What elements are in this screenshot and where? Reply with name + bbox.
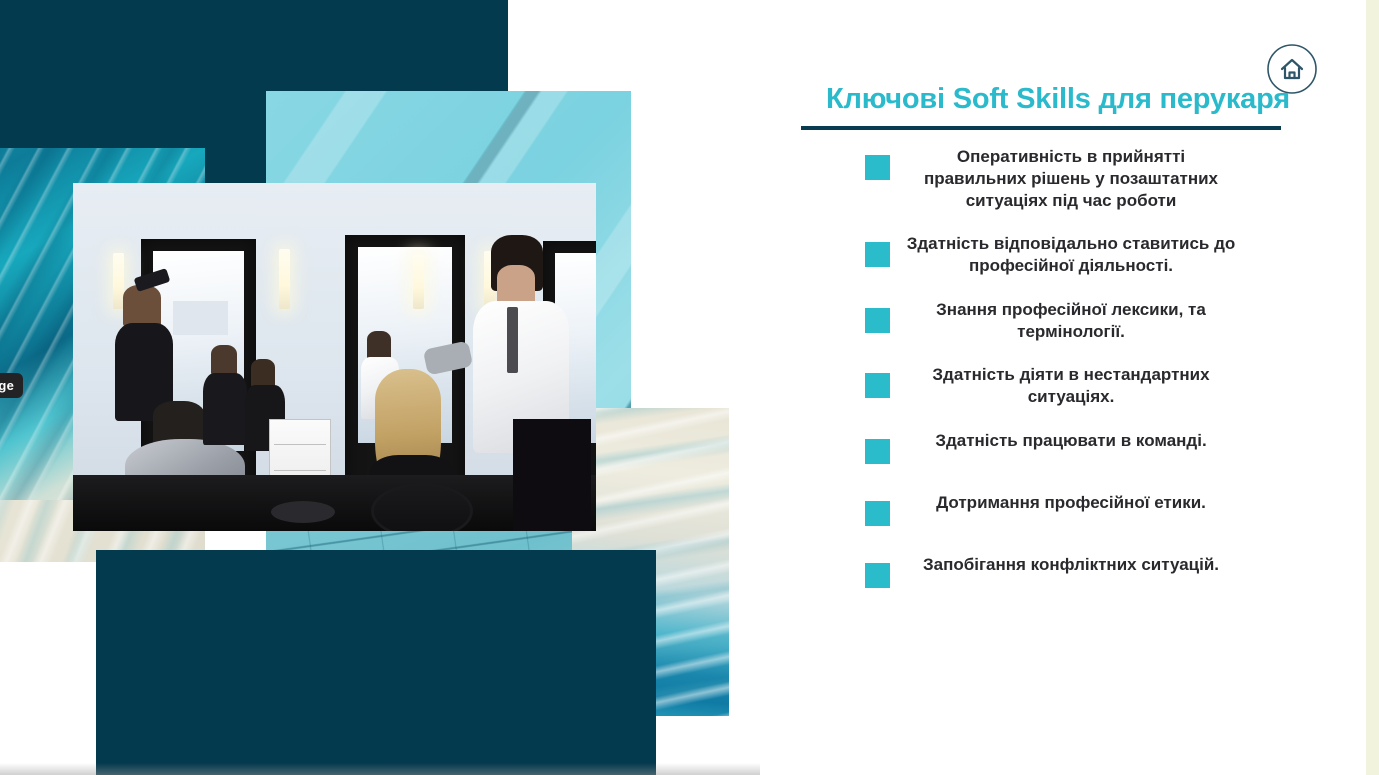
list-item-label: Запобігання конфліктних ситуацій. xyxy=(906,554,1236,576)
photo-sconce-3 xyxy=(413,255,424,309)
bullet-square-icon xyxy=(865,563,890,588)
navy-block-bottom-left xyxy=(96,550,561,775)
photo-bg-figure-1-body xyxy=(203,373,247,445)
bullet-square-icon xyxy=(865,155,890,180)
list-item: Оперативність в прийнятті правильних ріш… xyxy=(796,146,1336,211)
list-item: Знання професійної лексики, та терміноло… xyxy=(796,299,1336,343)
photo-chair-base-left xyxy=(271,501,335,523)
image-collage: age xyxy=(0,0,760,775)
image-alt-chip[interactable]: age xyxy=(0,373,23,398)
right-edge-strip xyxy=(1366,0,1379,775)
salon-photo xyxy=(73,183,596,531)
list-item: Запобігання конфліктних ситуацій. xyxy=(796,554,1336,594)
list-item-label: Дотримання професійної етики. xyxy=(906,492,1236,514)
photo-reflection-left xyxy=(173,301,228,335)
list-item-label: Знання професійної лексики, та терміноло… xyxy=(906,299,1236,343)
page-title: Ключові Soft Skills для перукаря xyxy=(793,84,1323,116)
photo-sconce-2 xyxy=(279,249,290,309)
photo-stylist-left-head xyxy=(123,285,161,327)
list-item: Здатність діяти в нестандартних ситуація… xyxy=(796,364,1336,408)
title-underline xyxy=(801,126,1281,130)
photo-dark-right-corner xyxy=(513,419,591,531)
content-panel: Ключові Soft Skills для перукаря Операти… xyxy=(760,0,1366,775)
list-item-label: Здатність відповідально ставитись до про… xyxy=(906,233,1236,277)
list-item-label: Оперативність в прийнятті правильних ріш… xyxy=(906,146,1236,211)
slide: age Ключові Soft Skills для перукаря Опе… xyxy=(0,0,1379,775)
bullet-square-icon xyxy=(865,373,890,398)
photo-bg-figure-1-head xyxy=(211,345,237,375)
list-item-label: Здатність працювати в команді. xyxy=(906,430,1236,452)
list-item: Дотримання професійної етики. xyxy=(796,492,1336,532)
photo-bg-figure-2-head xyxy=(251,359,275,387)
photo-mirror-figure-1-head xyxy=(367,331,391,359)
list-item-label: Здатність діяти в нестандартних ситуація… xyxy=(906,364,1236,408)
list-item: Здатність відповідально ставитись до про… xyxy=(796,233,1336,277)
bullet-square-icon xyxy=(865,439,890,464)
bullet-square-icon xyxy=(865,242,890,267)
bullet-list: Оперативність в прийнятті правильних ріш… xyxy=(796,146,1336,616)
list-item: Здатність працювати в команді. xyxy=(796,430,1336,470)
bullet-square-icon xyxy=(865,308,890,333)
photo-chair-right xyxy=(371,483,473,531)
bullet-square-icon xyxy=(865,501,890,526)
photo-stylist-right-tie xyxy=(507,307,518,373)
